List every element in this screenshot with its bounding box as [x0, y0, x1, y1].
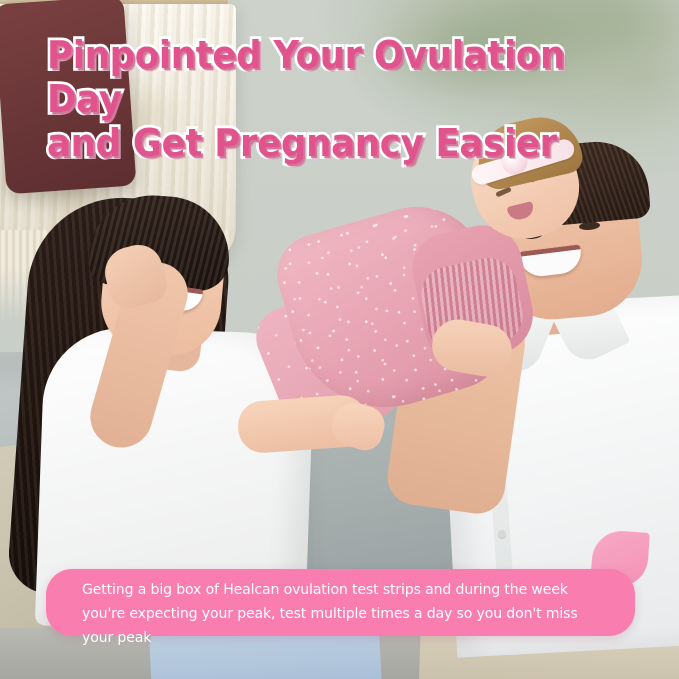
page-title: Pinpointed Your Ovulation Day and Get Pr… [47, 33, 605, 165]
caption-text: Getting a big box of Healcan ovulation t… [82, 578, 588, 650]
caption-banner: Getting a big box of Healcan ovulation t… [46, 569, 635, 636]
product-lifestyle-poster: Pinpointed Your Ovulation Day and Get Pr… [0, 0, 679, 679]
shirt-button [498, 530, 507, 539]
